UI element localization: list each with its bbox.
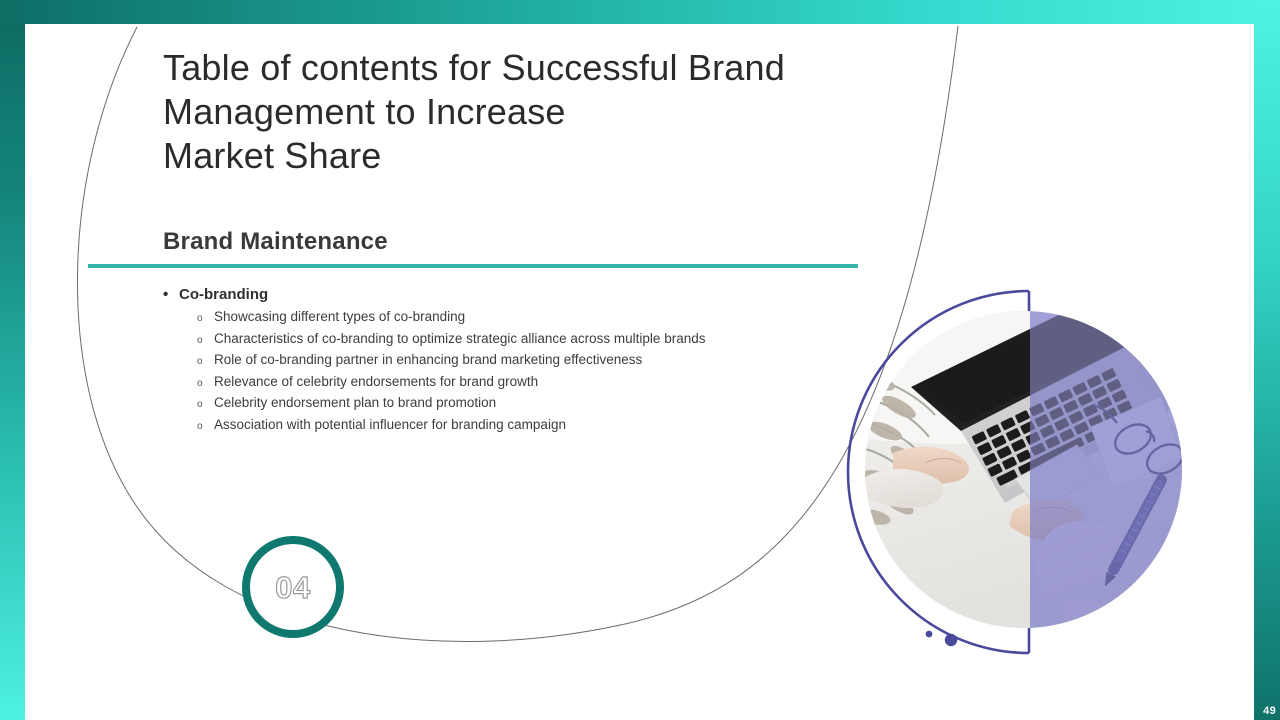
- bullet-dot-icon: •: [163, 287, 179, 302]
- list-item: o Celebrity endorsement plan to brand pr…: [197, 393, 883, 415]
- section-number-label: 04: [275, 572, 310, 603]
- page-title: Table of contents for Successful Brand M…: [163, 46, 923, 178]
- list-item-label: Showcasing different types of co-brandin…: [214, 307, 465, 327]
- media-composition: [813, 262, 1193, 672]
- list-item-label: Association with potential influencer fo…: [214, 415, 566, 435]
- purple-tint-overlay: [1030, 311, 1182, 628]
- right-gradient-strip: [1254, 0, 1280, 720]
- list-item: o Characteristics of co-branding to opti…: [197, 329, 883, 351]
- arc-dot-large: [945, 634, 957, 646]
- list-item: o Association with potential influencer …: [197, 415, 883, 437]
- arc-dot-small: [926, 631, 933, 638]
- circle-bullet-icon: o: [197, 331, 214, 351]
- circle-bullet-icon: o: [197, 417, 214, 437]
- list-item-label: Characteristics of co-branding to optimi…: [214, 329, 705, 349]
- circle-bullet-icon: o: [197, 309, 214, 329]
- list-item: o Relevance of celebrity endorsements fo…: [197, 372, 883, 394]
- list-item-primary: • Co-branding: [163, 286, 883, 303]
- section-number-badge: 04: [242, 536, 344, 638]
- list-item-label: Celebrity endorsement plan to brand prom…: [214, 393, 496, 413]
- circle-bullet-icon: o: [197, 352, 214, 372]
- circle-bullet-icon: o: [197, 395, 214, 415]
- heading-underline: [88, 264, 858, 268]
- sub-list: o Showcasing different types of co-brand…: [197, 307, 883, 436]
- feature-photo: [865, 311, 1182, 628]
- list-item-label: Role of co-branding partner in enhancing…: [214, 350, 642, 370]
- page-number: 49: [1263, 705, 1276, 717]
- top-gradient-strip: [0, 0, 1280, 24]
- list-item-primary-label: Co-branding: [179, 286, 268, 303]
- list-item-label: Relevance of celebrity endorsements for …: [214, 372, 538, 392]
- section-heading: Brand Maintenance: [163, 228, 388, 256]
- slide-canvas: Table of contents for Successful Brand M…: [25, 24, 1254, 720]
- slide: 49 Table of contents for Successful Bran…: [0, 0, 1280, 720]
- circle-bullet-icon: o: [197, 374, 214, 394]
- list-item: o Showcasing different types of co-brand…: [197, 307, 883, 329]
- left-gradient-strip: [0, 0, 25, 720]
- list-item: o Role of co-branding partner in enhanci…: [197, 350, 883, 372]
- content-list: • Co-branding o Showcasing different typ…: [163, 286, 883, 436]
